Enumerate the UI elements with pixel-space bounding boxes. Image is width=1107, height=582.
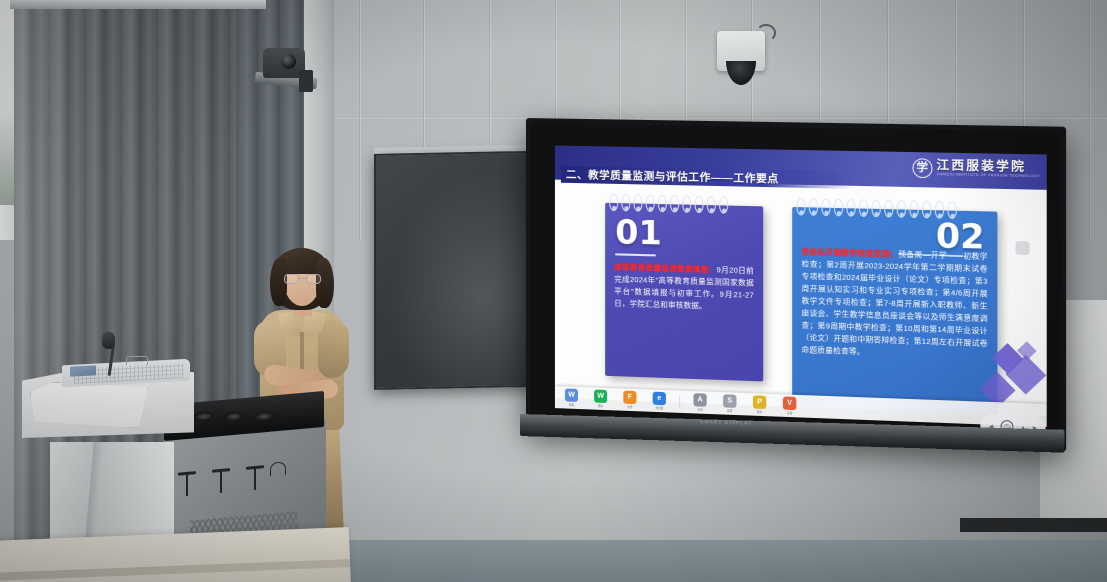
lectern-touch-screen[interactable]: [70, 365, 96, 376]
card-strikethrough: 预备周—开学——: [898, 249, 963, 260]
card-number-rule: [615, 253, 655, 256]
card-body-text: 常态化开展教学检查监测：预备周—开学——初教学检查；第2周开展2023-2024…: [802, 246, 988, 362]
taskbar-item[interactable]: e 浏览器: [647, 391, 672, 410]
taskbar-item[interactable]: V 音量: [777, 396, 803, 415]
taskbar-item[interactable]: S 设置: [717, 394, 743, 413]
baseboard: [960, 518, 1107, 532]
taskbar-divider: [679, 396, 680, 408]
ptz-camera-lens: [281, 54, 296, 69]
presentation-slide: 二、教学质量监测与评估工作——工作要点 学 江西服装学院 JIANGXI INS…: [555, 146, 1047, 417]
taskbar-item-label: 白板: [569, 403, 574, 407]
decorative-diamonds: [968, 333, 1043, 412]
browser-icon[interactable]: e: [653, 392, 666, 406]
taskbar-item-label: 浏览器: [655, 406, 663, 410]
apps-icon[interactable]: A: [693, 393, 706, 407]
card-number: 02: [936, 218, 985, 253]
university-logo: 学 江西服装学院 JIANGXI INSTITUTE OF FASHION TE…: [912, 155, 1040, 182]
logo-text: 江西服装学院 JIANGXI INSTITUTE OF FASHION TECH…: [936, 159, 1040, 179]
wechat-icon[interactable]: W: [594, 389, 607, 403]
presenter-sleeve-right: [318, 320, 349, 378]
taskbar-item[interactable]: W 微信: [588, 389, 613, 408]
card-highlight: 高等教育质量监测数据填报：: [614, 262, 716, 274]
lectern-lid-handle[interactable]: [126, 356, 148, 365]
card-highlight: 常态化开展教学检查监测：: [802, 247, 899, 259]
eyeglasses-icon: [284, 274, 321, 284]
smart-display[interactable]: 二、教学质量监测与评估工作——工作要点 学 江西服装学院 JIANGXI INS…: [526, 118, 1066, 452]
settings-icon[interactable]: S: [723, 394, 736, 408]
wall-horizontal-seam: [300, 118, 1107, 119]
lectern-cable-loop: [270, 461, 286, 476]
microphone-icon[interactable]: [102, 332, 115, 349]
card-number: 01: [615, 215, 662, 249]
slide-card-01: 01 高等教育质量监测数据填报：9月20日前完成2024年“高等教育质量监测国家…: [605, 203, 763, 382]
taskbar-item[interactable]: A 应用: [687, 393, 713, 412]
file-manager-icon[interactable]: F: [623, 391, 636, 405]
card-body-text: 高等教育质量监测数据填报：9月20日前完成2024年“高等教育质量监测国家数据平…: [614, 261, 754, 314]
ptz-camera-icon: [255, 48, 317, 94]
whiteboard-icon[interactable]: W: [565, 388, 578, 402]
curtain-rod: [10, 0, 266, 9]
logo-name-cn: 江西服装学院: [936, 159, 1040, 173]
smart-display-screen[interactable]: 二、教学质量监测与评估工作——工作要点 学 江西服装学院 JIANGXI INS…: [531, 123, 1061, 446]
screenshot-scene: 二、教学质量监测与评估工作——工作要点 学 江西服装学院 JIANGXI INS…: [0, 0, 1107, 582]
taskbar-item-label: 设置: [727, 409, 732, 413]
dome-camera-icon: [713, 31, 771, 93]
taskbar-item-label: 微信: [598, 404, 603, 408]
taskbar-item[interactable]: F 文件: [617, 390, 642, 409]
volume-icon[interactable]: V: [783, 396, 796, 410]
taskbar-item-label: 文件: [627, 405, 632, 409]
ptz-camera-mount: [299, 70, 313, 92]
screencast-icon[interactable]: P: [753, 395, 766, 409]
taskbar-item-label: 音量: [787, 411, 792, 415]
taskbar-item[interactable]: W 白板: [559, 388, 584, 407]
spiral-binding-icon: [796, 198, 957, 220]
logo-mark-icon: 学: [912, 158, 932, 178]
taskbar-item-label: 投屏: [757, 410, 762, 414]
taskbar-item-label: 应用: [697, 407, 702, 411]
lectern-front-facet: [30, 382, 148, 428]
dome-camera-lens: [726, 61, 756, 85]
logo-name-en: JIANGXI INSTITUTE OF FASHION TECHNOLOGY: [936, 173, 1040, 179]
card-paragraph: 初教学检查；第2周开展2023-2024学年第二学期期末试卷专项检查和2024届…: [802, 251, 988, 356]
slide-corner-tag-icon: ⊙: [1016, 241, 1030, 255]
taskbar-item[interactable]: P 投屏: [747, 395, 773, 414]
